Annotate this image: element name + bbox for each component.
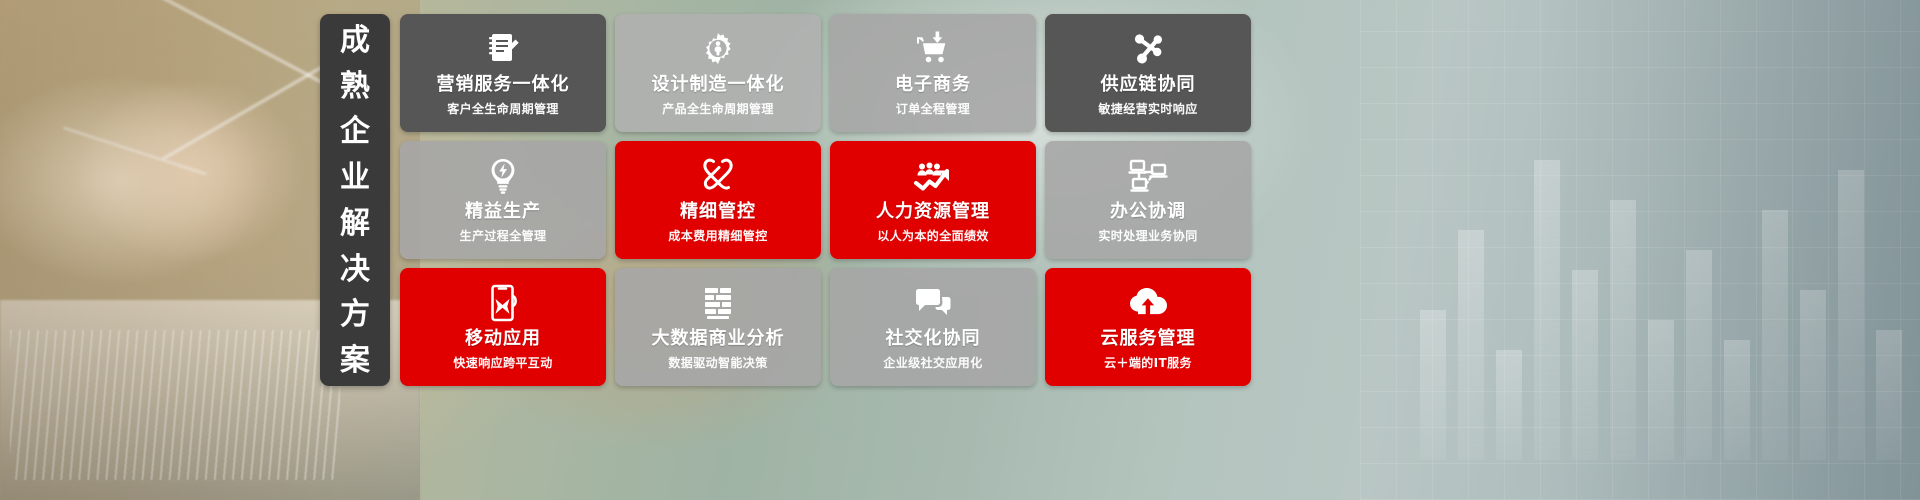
- vertical-title-char: 成: [340, 26, 370, 56]
- card-title: 供应链协同: [1101, 75, 1196, 95]
- database-bars-icon: [700, 283, 736, 323]
- card-title: 设计制造一体化: [652, 75, 785, 95]
- card-subtitle: 数据驱动智能决策: [668, 354, 767, 371]
- cloud-upload-icon: [1127, 283, 1169, 323]
- mobile-phone-sync-icon: [486, 283, 520, 323]
- solution-panel: 成 熟 企 业 解 决 方 案: [320, 14, 1251, 386]
- vertical-title-char: 解: [340, 209, 370, 239]
- card-title: 人力资源管理: [876, 202, 990, 222]
- card-title: 移动应用: [465, 329, 541, 349]
- card-subtitle: 敏捷经营实时响应: [1098, 100, 1197, 117]
- solution-card-fine-control[interactable]: 精细管控 成本费用精细管控: [615, 141, 821, 259]
- lightbulb-bolt-icon: [486, 156, 520, 196]
- solution-card-cloud-service[interactable]: 云服务管理 云＋端的IT服务: [1045, 268, 1251, 386]
- card-subtitle: 产品全生命周期管理: [662, 100, 774, 117]
- link-chain-icon: [701, 156, 735, 196]
- card-subtitle: 客户全生命周期管理: [447, 100, 559, 117]
- card-title: 办公协调: [1110, 202, 1186, 222]
- card-title: 大数据商业分析: [652, 329, 785, 349]
- solution-card-marketing-service[interactable]: 营销服务一体化 客户全生命周期管理: [400, 14, 606, 132]
- gear-person-icon: [700, 29, 736, 69]
- card-title: 精细管控: [680, 202, 756, 222]
- vertical-title-char: 方: [340, 300, 370, 330]
- card-title: 云服务管理: [1101, 329, 1196, 349]
- vertical-title-bar: 成 熟 企 业 解 决 方 案: [320, 14, 390, 386]
- card-subtitle: 快速响应跨平互动: [453, 354, 552, 371]
- solution-card-human-resources[interactable]: 人力资源管理 以人为本的全面绩效: [830, 141, 1036, 259]
- vertical-title-char: 企: [340, 117, 370, 147]
- card-title: 精益生产: [465, 202, 541, 222]
- vertical-title-char: 案: [340, 346, 370, 376]
- people-growth-arrow-icon: [913, 156, 953, 196]
- solution-card-big-data-analysis[interactable]: 大数据商业分析 数据驱动智能决策: [615, 268, 821, 386]
- shopping-cart-download-icon: [914, 29, 952, 69]
- notebook-pencil-icon: [484, 29, 522, 69]
- vertical-title-char: 决: [340, 255, 370, 285]
- card-title: 电子商务: [895, 75, 971, 95]
- solution-card-lean-production[interactable]: 精益生产 生产过程全管理: [400, 141, 606, 259]
- card-subtitle: 云＋端的IT服务: [1104, 354, 1192, 371]
- solution-card-supply-chain[interactable]: 供应链协同 敏捷经营实时响应: [1045, 14, 1251, 132]
- chat-bubbles-icon: [913, 283, 953, 323]
- card-subtitle: 实时处理业务协同: [1098, 227, 1197, 244]
- card-subtitle: 企业级社交应用化: [883, 354, 982, 371]
- banner-stage: 成 熟 企 业 解 决 方 案: [0, 0, 1920, 500]
- solution-card-grid: 营销服务一体化 客户全生命周期管理 设计制造一体化 产品全生命周期管理: [400, 14, 1251, 386]
- vertical-title-char: 业: [340, 163, 370, 193]
- network-nodes-icon: [1129, 29, 1167, 69]
- vertical-title-char: 熟: [340, 72, 370, 102]
- connected-computers-icon: [1127, 156, 1169, 196]
- card-title: 营销服务一体化: [437, 75, 570, 95]
- card-subtitle: 成本费用精细管控: [668, 227, 767, 244]
- solution-card-design-manufacturing[interactable]: 设计制造一体化 产品全生命周期管理: [615, 14, 821, 132]
- card-subtitle: 以人为本的全面绩效: [877, 227, 989, 244]
- solution-card-social-collaboration[interactable]: 社交化协同 企业级社交应用化: [830, 268, 1036, 386]
- solution-card-office-coordination[interactable]: 办公协调 实时处理业务协同: [1045, 141, 1251, 259]
- solution-card-ecommerce[interactable]: 电子商务 订单全程管理: [830, 14, 1036, 132]
- card-title: 社交化协同: [886, 329, 981, 349]
- card-subtitle: 生产过程全管理: [460, 227, 547, 244]
- card-subtitle: 订单全程管理: [896, 100, 970, 117]
- solution-card-mobile-app[interactable]: 移动应用 快速响应跨平互动: [400, 268, 606, 386]
